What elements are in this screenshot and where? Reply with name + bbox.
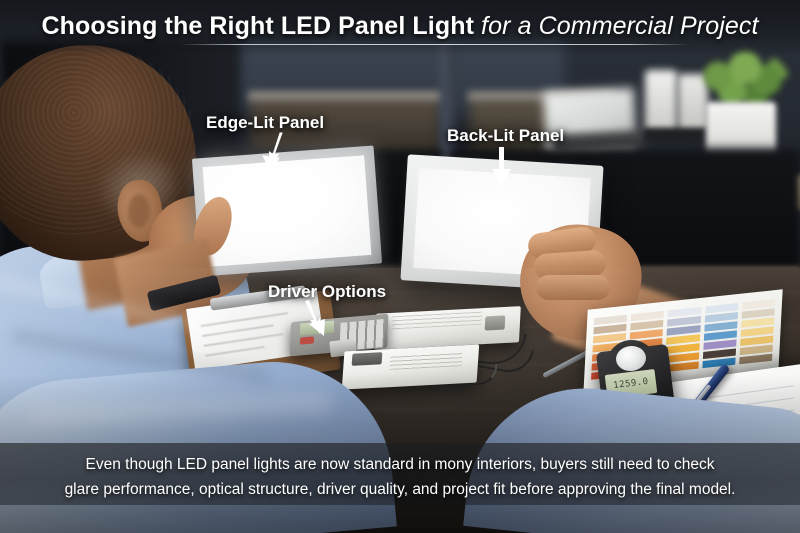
arrow-down-right-icon — [300, 300, 342, 342]
page-title-bold: Choosing the Right LED Panel Light — [41, 12, 481, 40]
background-shelf-left-edge — [248, 92, 444, 101]
background-canister-base — [643, 128, 711, 142]
callout-label-edge-lit: Edge-Lit Panel — [206, 113, 324, 133]
arrow-down-left-icon — [252, 131, 292, 173]
person-ear-inner — [128, 194, 150, 228]
background-canister — [645, 70, 677, 132]
page-title: Choosing the Right LED Panel Light for a… — [0, 12, 800, 41]
title-divider — [180, 44, 690, 45]
caption-text: Even though LED panel lights are now sta… — [40, 452, 760, 502]
caption-line-2: glare performance, optical structure, dr… — [40, 477, 760, 502]
arrow-down-icon — [488, 147, 516, 189]
page-title-italic: for a Commercial Project — [481, 12, 758, 40]
screenshot-root: 1259.0 Choosing the Right LED Panel Ligh… — [0, 0, 800, 533]
callout-label-driver-options: Driver Options — [268, 282, 386, 302]
callout-label-back-lit: Back-Lit Panel — [447, 126, 564, 146]
caption-line-1: Even though LED panel lights are now sta… — [40, 452, 760, 477]
